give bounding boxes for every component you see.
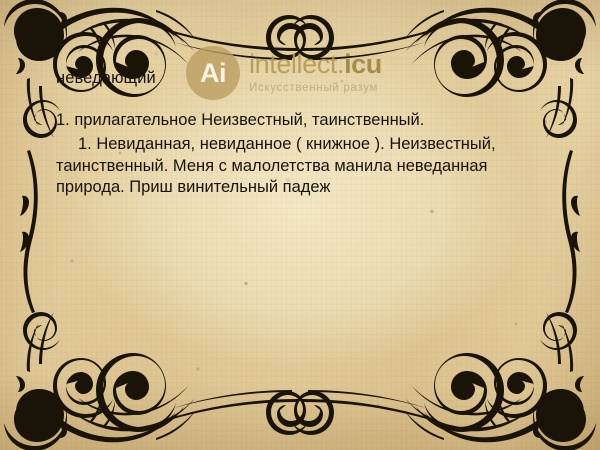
dictionary-article: неведающий 1. прилагательное Неизвестный…: [56, 68, 548, 199]
parchment-page: Ai intellect.icu Искусственный разум нев…: [0, 0, 600, 450]
swag-top-right: [291, 15, 430, 60]
side-rule-right: [562, 150, 580, 313]
swag-top-left: [170, 15, 309, 60]
corner-ornament-bottom-left: [4, 312, 195, 450]
swag-bottom-right: [291, 390, 430, 435]
sense-item: 1. Невиданная, невиданное ( книжное ). Н…: [56, 134, 548, 200]
swag-bottom-left: [170, 390, 309, 435]
sense-item: 1. прилагательное Неизвестный, таинствен…: [56, 110, 548, 132]
sense-list: 1. прилагательное Неизвестный, таинствен…: [56, 110, 548, 200]
headword: неведающий: [56, 68, 548, 89]
corner-ornament-bottom-right: [405, 312, 596, 450]
side-rule-left: [20, 150, 38, 313]
